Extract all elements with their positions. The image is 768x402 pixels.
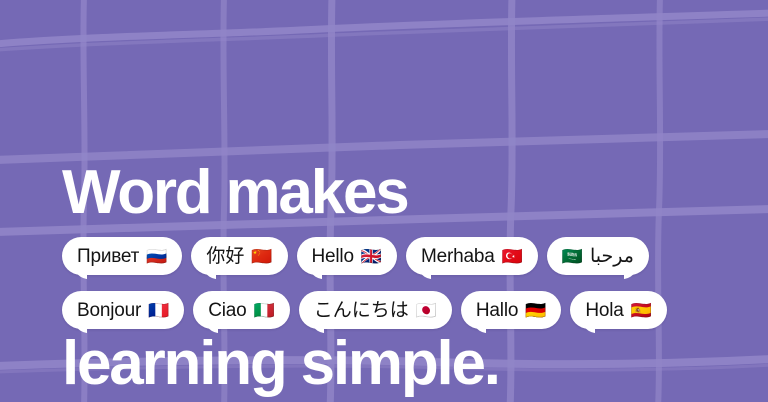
speech-bubble-tail [469, 321, 486, 334]
speech-bubble-tr: Merhaba🇹🇷 [406, 237, 538, 275]
speech-bubble-fr: Bonjour🇫🇷 [62, 291, 184, 329]
speech-bubble-tail [201, 321, 218, 334]
speech-bubble-es: Hola🇪🇸 [570, 291, 666, 329]
flag-china-icon: 🇨🇳 [251, 248, 272, 265]
grid-line-horizontal [0, 13, 768, 44]
speech-bubble-text: Hello [312, 247, 354, 266]
speech-bubble-text: Bonjour [77, 301, 141, 320]
speech-bubble-it: Ciao🇮🇹 [193, 291, 289, 329]
flag-russia-icon: 🇷🇺 [146, 248, 167, 265]
speech-bubble-tail [199, 267, 216, 280]
speech-bubble-ru: Привет🇷🇺 [62, 237, 182, 275]
speech-bubble-text: Hola [585, 301, 623, 320]
speech-bubble-tail [307, 321, 324, 334]
speech-bubble-group: Привет🇷🇺你好🇨🇳Hello🇬🇧Merhaba🇹🇷مرحبا🇸🇦 Bonj… [0, 237, 768, 345]
speech-bubble-text: مرحبا [590, 247, 634, 266]
speech-bubble-text: こんにちは [314, 301, 409, 320]
flag-spain-icon: 🇪🇸 [631, 302, 652, 319]
speech-bubble-text: 你好 [206, 247, 244, 266]
promo-banner: Word makes learning simple. Привет🇷🇺你好🇨🇳… [0, 0, 768, 402]
grid-line-horizontal [0, 19, 768, 50]
flag-italy-icon: 🇮🇹 [254, 302, 275, 319]
flag-france-icon: 🇫🇷 [148, 302, 169, 319]
speech-bubble-row-1: Привет🇷🇺你好🇨🇳Hello🇬🇧Merhaba🇹🇷مرحبا🇸🇦 [0, 237, 768, 291]
speech-bubble-en: Hello🇬🇧 [297, 237, 397, 275]
speech-bubble-tail [578, 321, 595, 334]
speech-bubble-row-2: Bonjour🇫🇷Ciao🇮🇹こんにちは🇯🇵Hallo🇩🇪Hola🇪🇸 [0, 291, 768, 345]
speech-bubble-de: Hallo🇩🇪 [461, 291, 561, 329]
flag-saudi-arabia-icon: 🇸🇦 [562, 248, 583, 265]
speech-bubble-text: Привет [77, 247, 139, 266]
speech-bubble-tail [624, 267, 641, 280]
speech-bubble-text: Ciao [208, 301, 246, 320]
headline: Word makes learning simple. [62, 50, 499, 402]
speech-bubble-text: Merhaba [421, 247, 495, 266]
flag-japan-icon: 🇯🇵 [416, 302, 437, 319]
speech-bubble-tail [70, 267, 87, 280]
flag-germany-icon: 🇩🇪 [525, 302, 546, 319]
speech-bubble-text: Hallo [476, 301, 518, 320]
speech-bubble-ar: مرحبا🇸🇦 [547, 237, 649, 275]
speech-bubble-tail [305, 267, 322, 280]
speech-bubble-ja: こんにちは🇯🇵 [299, 291, 452, 329]
flag-united-kingdom-icon: 🇬🇧 [361, 248, 382, 265]
speech-bubble-tail [414, 267, 431, 280]
speech-bubble-zh: 你好🇨🇳 [191, 237, 287, 275]
speech-bubble-tail [70, 321, 87, 334]
flag-turkey-icon: 🇹🇷 [502, 248, 523, 265]
headline-line-1: Word makes [62, 164, 499, 221]
